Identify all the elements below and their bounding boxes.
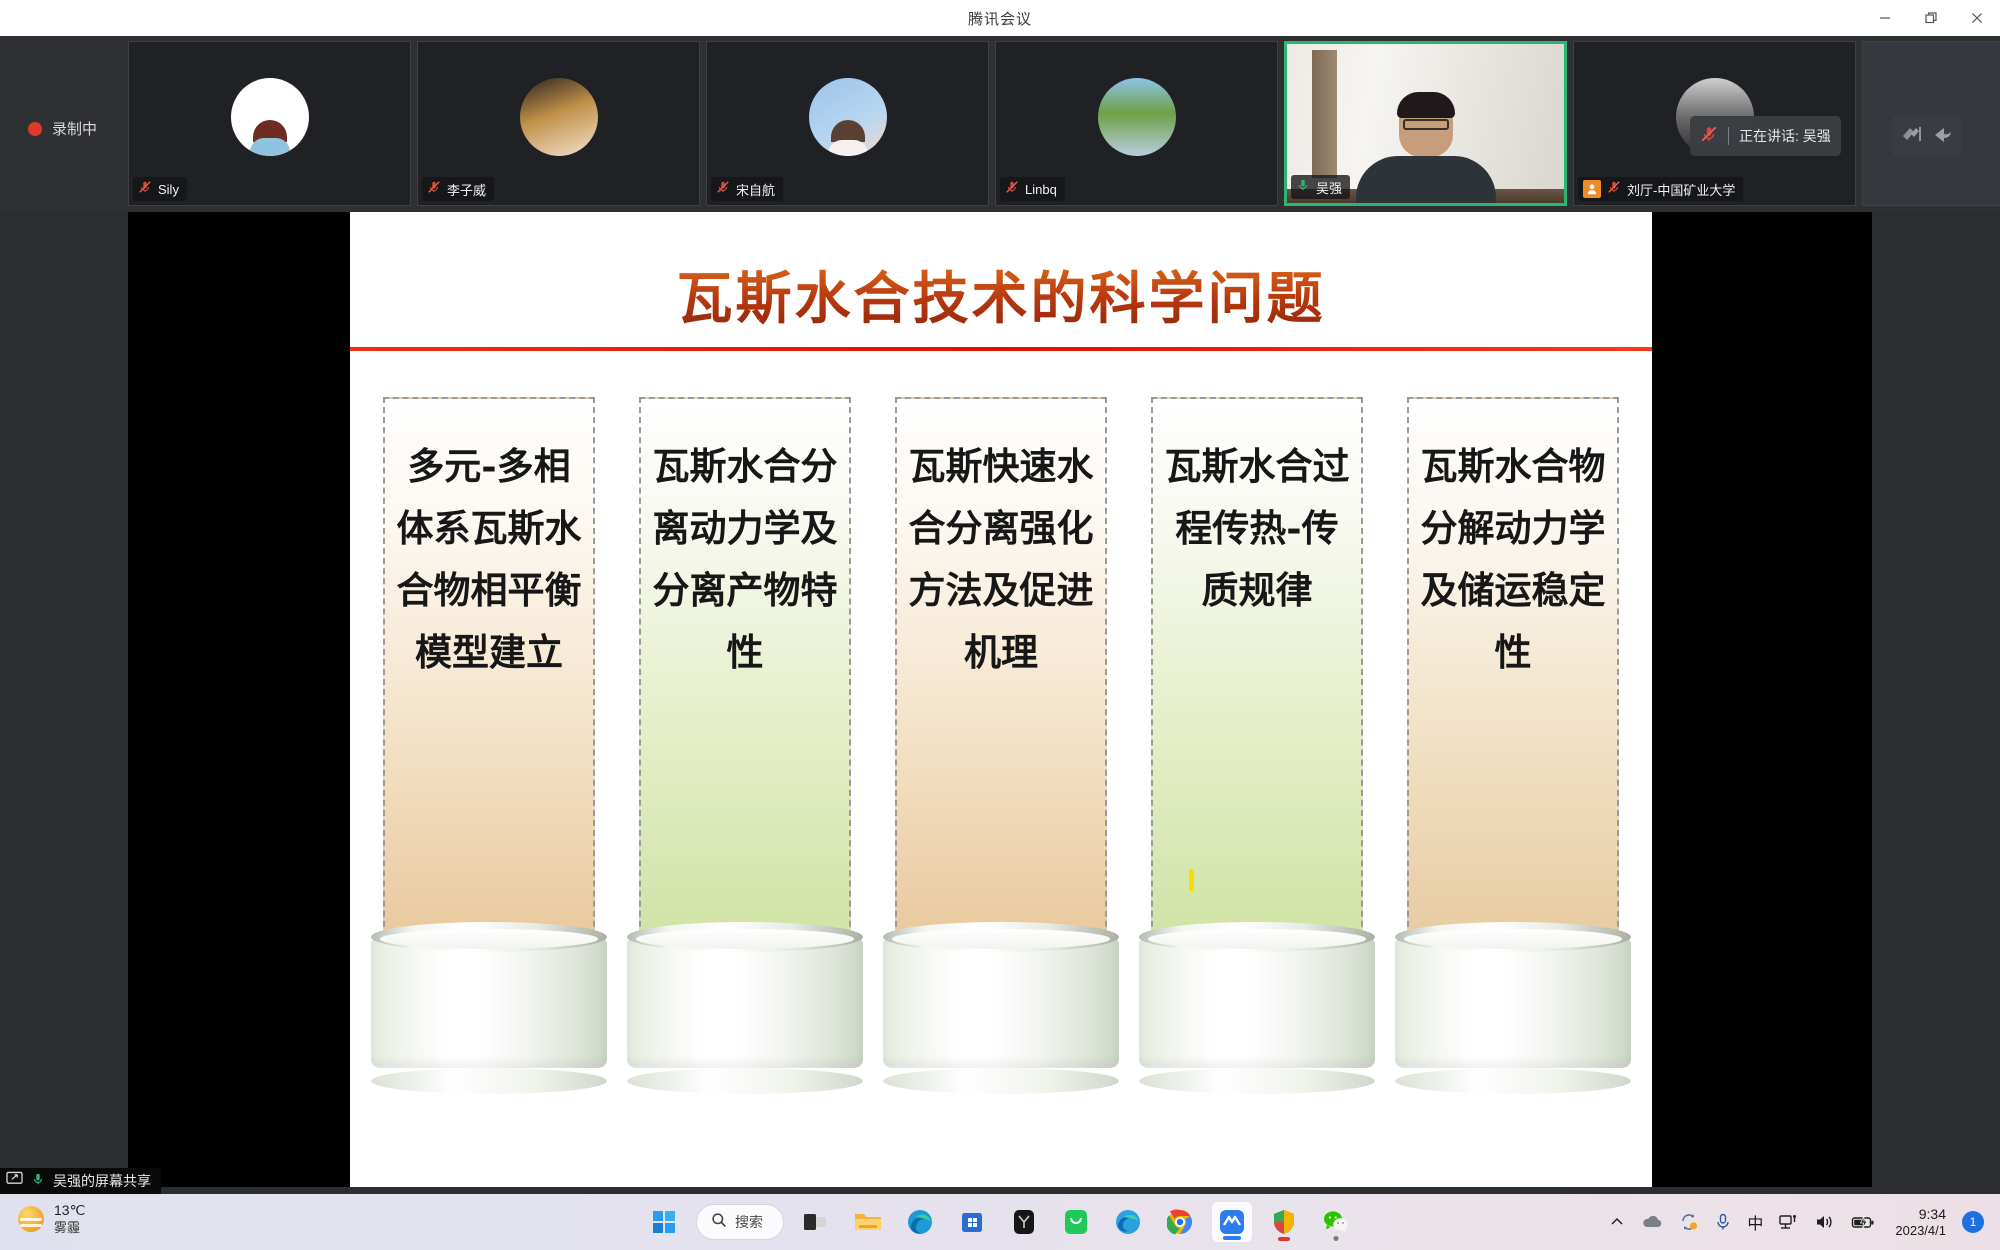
participant-namebar: 李子威 <box>422 177 494 201</box>
onedrive-cloud-icon[interactable] <box>1641 1214 1663 1230</box>
pillar-column: 瓦斯水合过程传热-传质规律 <box>1151 397 1363 957</box>
search-icon <box>711 1212 727 1233</box>
clock-time: 9:34 <box>1895 1206 1946 1223</box>
clock-date: 2023/4/1 <box>1895 1223 1946 1239</box>
screen-share-status-bar: 吴强的屏幕共享 <box>0 1168 161 1194</box>
mic-active-icon <box>31 1172 45 1191</box>
edge-secondary-button[interactable] <box>1108 1202 1148 1242</box>
slide-title: 瓦斯水合技术的科学问题 <box>350 254 1652 335</box>
pillar-column: 多元-多相体系瓦斯水合物相平衡模型建立 <box>383 397 595 957</box>
pillar-item: 多元-多相体系瓦斯水合物相平衡模型建立 <box>371 397 607 1087</box>
pillar-text: 瓦斯水合分离动力学及分离产物特性 <box>651 435 839 684</box>
speaking-label: 正在讲话: 吴强 <box>1739 126 1831 146</box>
participant-name: 吴强 <box>1316 178 1342 197</box>
start-button[interactable] <box>644 1202 684 1242</box>
avatar <box>520 78 598 156</box>
participant-tile-active-speaker[interactable]: 吴强 <box>1284 41 1567 206</box>
participant-name: 刘厅-中国矿业大学 <box>1627 180 1735 199</box>
microphone-icon[interactable] <box>1715 1213 1731 1231</box>
mic-muted-icon <box>427 180 441 199</box>
security-shield-button[interactable] <box>1264 1202 1304 1242</box>
shared-screen-viewport[interactable]: 瓦斯水合技术的科学问题 多元-多相体系瓦斯水合物相平衡模型建立 <box>128 212 1872 1187</box>
pillar-base <box>883 922 1119 1082</box>
recording-label: 录制中 <box>52 118 97 139</box>
text-cursor-caret <box>1189 869 1194 891</box>
microsoft-edge-button[interactable] <box>900 1202 940 1242</box>
speaking-toast: 正在讲话: 吴强 <box>1690 116 1841 156</box>
window-controls <box>1862 0 2000 36</box>
volume-icon[interactable] <box>1815 1213 1835 1231</box>
window-title-bar: 腾讯会议 <box>0 0 2000 36</box>
ime-indicator[interactable]: 中 <box>1747 1210 1763 1234</box>
sync-icon[interactable] <box>1679 1212 1699 1232</box>
task-view-button[interactable] <box>796 1202 836 1242</box>
pillar-column: 瓦斯水合分离动力学及分离产物特性 <box>639 397 851 957</box>
participant-namebar: 吴强 <box>1291 175 1350 199</box>
minimize-button[interactable] <box>1862 0 1908 36</box>
windows-taskbar: 13℃ 雾霾 搜索 <box>0 1194 2000 1250</box>
mic-muted-icon <box>138 180 152 199</box>
participant-name: 宋自航 <box>736 180 775 199</box>
weather-condition: 雾霾 <box>54 1220 85 1236</box>
pillar-column: 瓦斯水合物分解动力学及储运稳定性 <box>1407 397 1619 957</box>
haze-icon <box>18 1206 44 1232</box>
battery-icon[interactable] <box>1851 1214 1875 1230</box>
mic-muted-icon <box>1700 125 1718 148</box>
mic-muted-icon <box>716 180 730 199</box>
pillar-item: 瓦斯水合分离动力学及分离产物特性 <box>627 397 863 1087</box>
taskbar-apps: 搜索 <box>644 1194 1356 1250</box>
participant-name: 李子威 <box>447 180 486 199</box>
participant-tile[interactable]: 李子威 <box>417 41 700 206</box>
window-title: 腾讯会议 <box>968 8 1032 29</box>
participant-name: Sily <box>158 182 179 197</box>
presentation-slide: 瓦斯水合技术的科学问题 多元-多相体系瓦斯水合物相平衡模型建立 <box>350 212 1652 1187</box>
participant-name: Linbq <box>1025 182 1057 197</box>
weather-temperature: 13℃ <box>54 1202 85 1220</box>
collapse-strip-icon[interactable] <box>1900 123 1926 150</box>
search-placeholder: 搜索 <box>735 1212 763 1232</box>
participant-tile[interactable]: 宋自航 <box>706 41 989 206</box>
participant-namebar: 刘厅-中国矿业大学 <box>1578 177 1743 201</box>
running-indicator <box>1334 1236 1339 1241</box>
pillar-group: 多元-多相体系瓦斯水合物相平衡模型建立 瓦斯水合分离动力学及分离产物特性 <box>360 397 1642 1087</box>
pillar-text: 多元-多相体系瓦斯水合物相平衡模型建立 <box>395 435 583 684</box>
clock[interactable]: 9:34 2023/4/1 <box>1895 1206 1946 1238</box>
pillar-base <box>627 922 863 1082</box>
screen-root: 腾讯会议 录制中 <box>0 0 2000 1250</box>
search-input[interactable]: 搜索 <box>696 1204 784 1240</box>
pillar-item: 瓦斯水合物分解动力学及储运稳定性 <box>1395 397 1631 1087</box>
red-magic-app-button[interactable] <box>1004 1202 1044 1242</box>
restore-strip-icon[interactable] <box>1930 123 1954 150</box>
pillar-column: 瓦斯快速水合分离强化方法及促进机理 <box>895 397 1107 957</box>
host-badge-icon <box>1583 180 1601 198</box>
mic-active-icon <box>1296 178 1310 197</box>
avatar <box>1098 78 1176 156</box>
pillar-base <box>1395 922 1631 1082</box>
pillar-text: 瓦斯水合过程传热-传质规律 <box>1163 435 1351 621</box>
pillar-item: 瓦斯快速水合分离强化方法及促进机理 <box>883 397 1119 1087</box>
title-divider <box>350 347 1652 351</box>
participant-strip: 录制中 <box>0 36 2000 211</box>
running-indicator <box>1278 1237 1290 1241</box>
participant-namebar: Linbq <box>1000 177 1065 201</box>
file-explorer-button[interactable] <box>848 1202 888 1242</box>
pillar-base <box>371 922 607 1082</box>
network-icon[interactable] <box>1779 1213 1799 1231</box>
participant-tile[interactable]: Sily <box>128 41 411 206</box>
mic-muted-icon <box>1607 180 1621 199</box>
recording-indicator: 录制中 <box>28 118 97 139</box>
wechat-button[interactable] <box>1316 1202 1356 1242</box>
pillar-item: 瓦斯水合过程传热-传质规律 <box>1139 397 1375 1087</box>
weather-widget[interactable]: 13℃ 雾霾 <box>18 1202 85 1236</box>
tray-overflow-icon[interactable] <box>1609 1214 1625 1230</box>
participant-namebar: Sily <box>133 177 187 201</box>
strip-toolbar <box>1892 116 1962 156</box>
restore-button[interactable] <box>1908 0 1954 36</box>
toast-divider <box>1728 127 1729 145</box>
participant-namebar: 宋自航 <box>711 177 783 201</box>
pillar-text: 瓦斯快速水合分离强化方法及促进机理 <box>907 435 1095 684</box>
system-tray: 中 <box>1609 1194 1984 1250</box>
tencent-meeting-button[interactable] <box>1212 1202 1252 1242</box>
green-app-button[interactable] <box>1056 1202 1096 1242</box>
pillar-text: 瓦斯水合物分解动力学及储运稳定性 <box>1419 435 1607 684</box>
avatar <box>809 78 887 156</box>
google-chrome-button[interactable] <box>1160 1202 1200 1242</box>
running-indicator <box>1223 1236 1241 1240</box>
screen-share-label: 吴强的屏幕共享 <box>53 1171 151 1191</box>
avatar <box>231 78 309 156</box>
pillar-base <box>1139 922 1375 1082</box>
microsoft-store-button[interactable] <box>952 1202 992 1242</box>
screen-share-icon <box>6 1171 23 1191</box>
mic-muted-icon <box>1005 180 1019 199</box>
participant-tile[interactable]: Linbq <box>995 41 1278 206</box>
close-button[interactable] <box>1954 0 2000 36</box>
notification-badge[interactable]: 1 <box>1962 1211 1984 1233</box>
record-dot-icon <box>28 122 42 136</box>
